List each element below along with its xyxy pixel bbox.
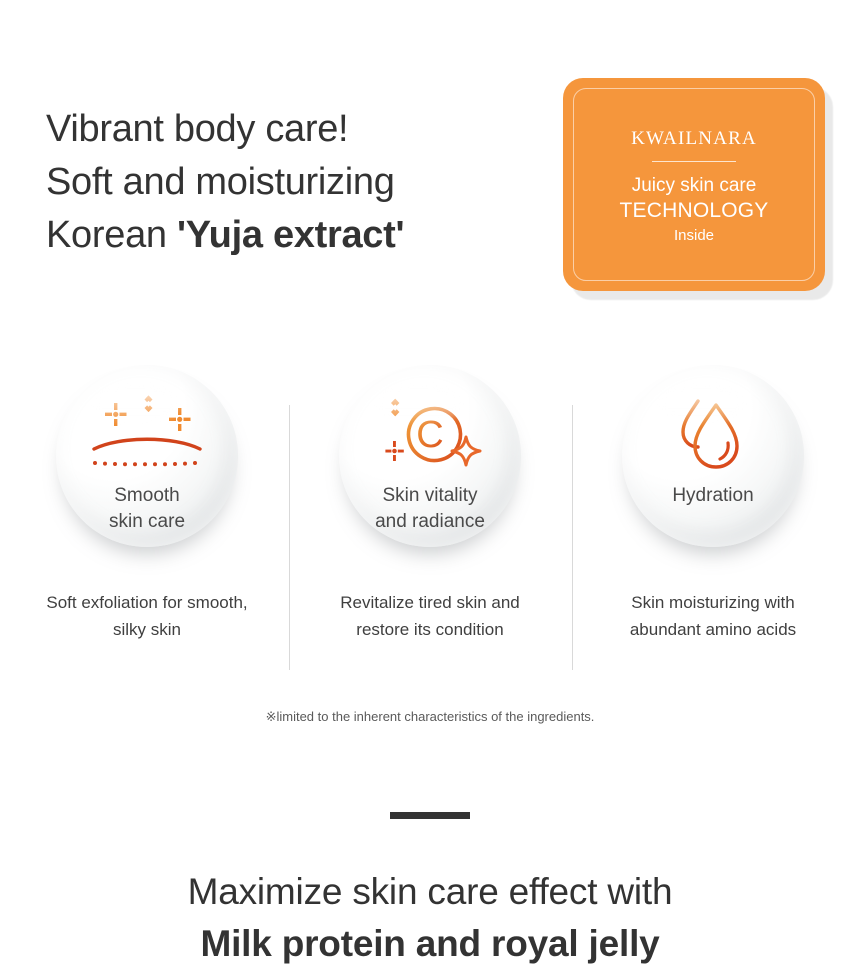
feature-label-line-1: Smooth	[56, 483, 238, 509]
hero-line-3-highlight: 'Yuja extract'	[177, 214, 404, 256]
vitamin-c-sparkle-icon: C	[371, 395, 489, 473]
ingredient-footnote: ※limited to the inherent characteristics…	[0, 709, 860, 725]
hero-line-2: Soft and moisturizing	[46, 156, 404, 209]
feature-caption: Revitalize tired skin and restore its co…	[287, 589, 573, 643]
smooth-skin-curve-icon	[88, 395, 206, 473]
feature-caption: Skin moisturizing with abundant amino ac…	[570, 589, 856, 643]
hero-line-3: Korean 'Yuja extract'	[46, 209, 404, 262]
feature-label-line-1: Hydration	[622, 483, 804, 509]
feature-sphere: Smooth skin care	[56, 365, 238, 547]
feature-item-hydration: Hydration Skin moisturizing with abundan…	[570, 365, 856, 665]
feature-label-line-1: Skin vitality	[339, 483, 521, 509]
feature-caption-line-1: Revitalize tired skin and	[287, 589, 573, 616]
feature-label: Skin vitality and radiance	[339, 483, 521, 535]
feature-caption-line-1: Skin moisturizing with	[570, 589, 856, 616]
badge-brand-name: Kwailnara	[563, 122, 825, 149]
feature-label: Smooth skin care	[56, 483, 238, 535]
feature-caption-line-2: restore its condition	[287, 616, 573, 643]
feature-caption-line-2: abundant amino acids	[570, 616, 856, 643]
feature-item-smooth-skin-care: Smooth skin care Soft exfoliation for sm…	[4, 365, 290, 665]
brand-badge: Kwailnara Juicy skin care TECHNOLOGY Ins…	[563, 78, 833, 300]
svg-text:C: C	[416, 414, 443, 456]
hero-line-1: Vibrant body care!	[46, 103, 404, 156]
water-droplets-icon	[654, 395, 772, 473]
badge-line-3: Inside	[563, 224, 825, 248]
bottom-title-line-2: Milk protein and royal jelly	[0, 918, 860, 970]
page-title: Vibrant body care! Soft and moisturizing…	[46, 103, 404, 262]
feature-caption-line-1: Soft exfoliation for smooth,	[4, 589, 290, 616]
feature-caption: Soft exfoliation for smooth, silky skin	[4, 589, 290, 643]
feature-label-line-2: skin care	[56, 509, 238, 535]
feature-list: Smooth skin care Soft exfoliation for sm…	[0, 365, 860, 665]
hero-line-3-prefix: Korean	[46, 214, 177, 256]
badge-divider	[652, 161, 736, 162]
feature-item-skin-vitality: C Skin vitality and radiance Revitalize …	[287, 365, 573, 665]
badge-card: Kwailnara Juicy skin care TECHNOLOGY Ins…	[563, 78, 825, 291]
feature-sphere: Hydration	[622, 365, 804, 547]
feature-caption-line-2: silky skin	[4, 616, 290, 643]
bottom-section-title: Maximize skin care effect with Milk prot…	[0, 866, 860, 970]
badge-line-2: TECHNOLOGY	[563, 198, 825, 224]
badge-line-1: Juicy skin care	[563, 173, 825, 198]
feature-label: Hydration	[622, 483, 804, 509]
bottom-title-line-1: Maximize skin care effect with	[188, 871, 673, 912]
feature-label-line-2: and radiance	[339, 509, 521, 535]
section-divider-bar	[390, 812, 470, 819]
feature-sphere: C Skin vitality and radiance	[339, 365, 521, 547]
